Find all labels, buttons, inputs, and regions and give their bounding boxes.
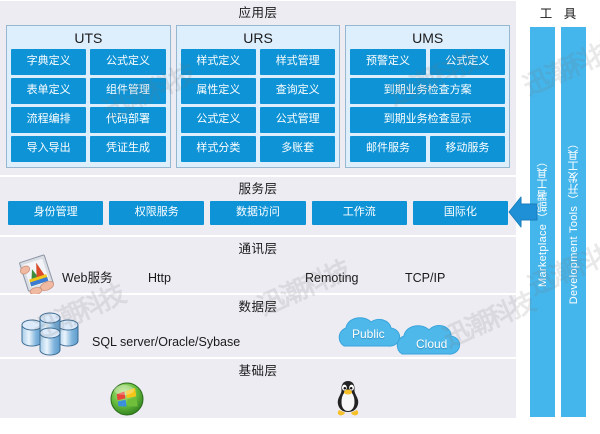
group-rows-uts: 字典定义 公式定义 表单定义 组件管理 流程编排 代码部署 导入导出 bbox=[11, 49, 166, 162]
layer-data: 数据层 bbox=[0, 294, 516, 358]
group-title-ums: UMS bbox=[350, 28, 505, 49]
group-row: 样式分类 多账套 bbox=[181, 136, 336, 162]
cloud-label-public: Public bbox=[352, 328, 385, 340]
data-layer-content: SQL server/Oracle/Sybase Public Cloud bbox=[0, 314, 516, 358]
linux-penguin-icon bbox=[332, 379, 364, 417]
group-row: 公式定义 公式管理 bbox=[181, 107, 336, 133]
comm-item-http: Http bbox=[148, 272, 171, 285]
base-layer-content bbox=[0, 378, 516, 418]
layer-title-communication: 通讯层 bbox=[0, 243, 516, 256]
tool-bar-development-tools[interactable]: Development Tools（开发工具） bbox=[561, 27, 586, 417]
cloud-label-cloud: Cloud bbox=[416, 338, 447, 350]
web-service-icon bbox=[14, 254, 60, 296]
service-boxes: 身份管理 权限服务 数据访问 工作流 国际化 bbox=[0, 196, 516, 225]
database-icon bbox=[18, 311, 88, 361]
group-row: 样式定义 样式管理 bbox=[181, 49, 336, 75]
communication-items: Web服务 Http Remoting TCP/IP bbox=[0, 256, 516, 292]
tool-bar-label: Development Tools（开发工具） bbox=[566, 138, 582, 304]
group-rows-ums: 预警定义 公式定义 到期业务检查方案 到期业务检查显示 邮件服务 移动服务 bbox=[350, 49, 505, 162]
group-row: 到期业务检查显示 bbox=[350, 107, 505, 133]
database-label: SQL server/Oracle/Sybase bbox=[92, 336, 240, 349]
group-row: 邮件服务 移动服务 bbox=[350, 136, 505, 162]
windows-logo-icon bbox=[110, 382, 144, 416]
service-item[interactable]: 身份管理 bbox=[8, 201, 103, 225]
layer-title-base: 基础层 bbox=[0, 365, 516, 378]
module-cell[interactable]: 预警定义 bbox=[350, 49, 425, 75]
group-row: 表单定义 组件管理 bbox=[11, 78, 166, 104]
comm-item-remoting: Remoting bbox=[305, 272, 359, 285]
module-cell[interactable]: 样式定义 bbox=[181, 49, 256, 75]
module-cell[interactable]: 导入导出 bbox=[11, 136, 86, 162]
group-urs[interactable]: URS 样式定义 样式管理 属性定义 查询定义 公式定义 公式管理 bbox=[176, 25, 341, 168]
comm-item-tcpip: TCP/IP bbox=[405, 272, 445, 285]
module-cell[interactable]: 表单定义 bbox=[11, 78, 86, 104]
module-cell[interactable]: 公式定义 bbox=[90, 49, 165, 75]
service-item[interactable]: 权限服务 bbox=[109, 201, 204, 225]
application-groups: UTS 字典定义 公式定义 表单定义 组件管理 流程编排 代码部署 bbox=[0, 20, 516, 174]
group-title-uts: UTS bbox=[11, 28, 166, 49]
module-cell[interactable]: 代码部署 bbox=[90, 107, 165, 133]
comm-item-webservice: Web服务 bbox=[62, 272, 112, 285]
module-cell[interactable]: 组件管理 bbox=[90, 78, 165, 104]
module-cell[interactable]: 属性定义 bbox=[181, 78, 256, 104]
service-item[interactable]: 数据访问 bbox=[210, 201, 305, 225]
group-row: 流程编排 代码部署 bbox=[11, 107, 166, 133]
group-ums[interactable]: UMS 预警定义 公式定义 到期业务检查方案 到期业务检查显示 bbox=[345, 25, 510, 168]
layer-title-application: 应用层 bbox=[0, 7, 516, 20]
service-item[interactable]: 工作流 bbox=[312, 201, 407, 225]
group-rows-urs: 样式定义 样式管理 属性定义 查询定义 公式定义 公式管理 样式分类 bbox=[181, 49, 336, 162]
module-cell[interactable]: 公式管理 bbox=[260, 107, 335, 133]
module-cell[interactable]: 样式管理 bbox=[260, 49, 335, 75]
module-cell[interactable]: 流程编排 bbox=[11, 107, 86, 133]
group-row: 到期业务检查方案 bbox=[350, 78, 505, 104]
module-cell[interactable]: 样式分类 bbox=[181, 136, 256, 162]
architecture-diagram: 应用层 UTS 字典定义 公式定义 表单定义 组件管理 bbox=[0, 0, 600, 434]
layer-base: 基础层 bbox=[0, 358, 516, 418]
module-cell[interactable]: 邮件服务 bbox=[350, 136, 425, 162]
group-row: 导入导出 凭证生成 bbox=[11, 136, 166, 162]
cloud-group-icon: Public Cloud bbox=[330, 314, 490, 360]
layer-communication: 通讯层 bbox=[0, 236, 516, 294]
module-cell[interactable]: 多账套 bbox=[260, 136, 335, 162]
service-item[interactable]: 国际化 bbox=[413, 201, 508, 225]
module-cell[interactable]: 公式定义 bbox=[430, 49, 505, 75]
module-cell[interactable]: 公式定义 bbox=[181, 107, 256, 133]
tools-panel-title: 工 具 bbox=[516, 0, 600, 21]
left-arrow-icon bbox=[508, 193, 538, 231]
module-cell[interactable]: 凭证生成 bbox=[90, 136, 165, 162]
group-row: 预警定义 公式定义 bbox=[350, 49, 505, 75]
module-cell[interactable]: 到期业务检查方案 bbox=[350, 78, 505, 104]
layer-service: 服务层 身份管理 权限服务 数据访问 工作流 国际化 bbox=[0, 176, 516, 236]
layer-title-service: 服务层 bbox=[0, 183, 516, 196]
module-cell[interactable]: 到期业务检查显示 bbox=[350, 107, 505, 133]
module-cell[interactable]: 移动服务 bbox=[430, 136, 505, 162]
group-title-urs: URS bbox=[181, 28, 336, 49]
group-row: 字典定义 公式定义 bbox=[11, 49, 166, 75]
layer-application: 应用层 UTS 字典定义 公式定义 表单定义 组件管理 bbox=[0, 0, 516, 176]
main-layer-stack: 应用层 UTS 字典定义 公式定义 表单定义 组件管理 bbox=[0, 0, 516, 434]
group-uts[interactable]: UTS 字典定义 公式定义 表单定义 组件管理 流程编排 代码部署 bbox=[6, 25, 171, 168]
module-cell[interactable]: 字典定义 bbox=[11, 49, 86, 75]
group-row: 属性定义 查询定义 bbox=[181, 78, 336, 104]
module-cell[interactable]: 查询定义 bbox=[260, 78, 335, 104]
